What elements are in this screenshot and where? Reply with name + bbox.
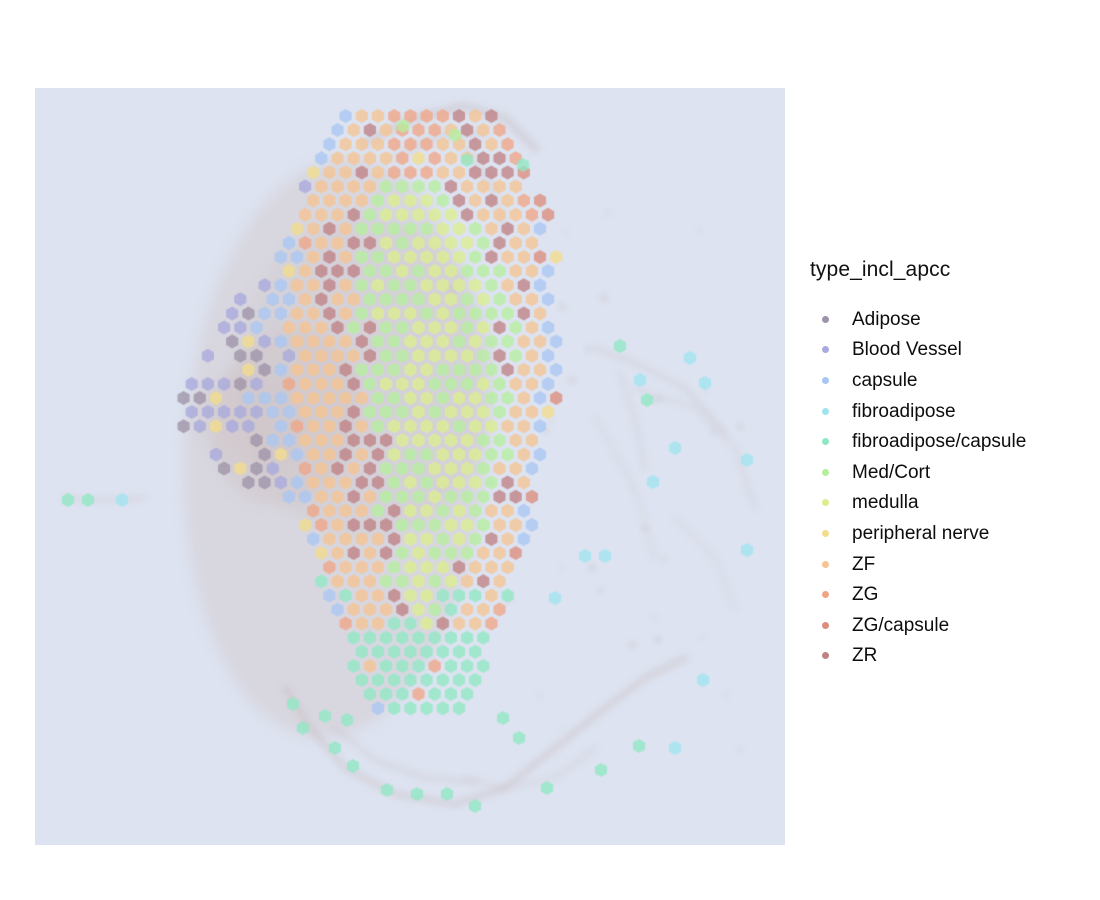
legend-color-dot-icon: [822, 530, 829, 537]
legend-item[interactable]: fibroadipose: [808, 396, 1100, 427]
legend-color-dot-icon: [822, 438, 829, 445]
legend-item[interactable]: peripheral nerve: [808, 518, 1100, 549]
legend-key-swatch: [808, 591, 842, 598]
legend-item[interactable]: ZF: [808, 549, 1100, 580]
legend-item[interactable]: Med/Cort: [808, 457, 1100, 488]
legend-title: type_incl_apcc: [810, 258, 1100, 282]
legend-item-label: medulla: [852, 493, 919, 512]
legend-item-label: fibroadipose/capsule: [852, 432, 1026, 451]
legend-item-list: AdiposeBlood Vesselcapsulefibroadiposefi…: [808, 304, 1100, 671]
legend-key-swatch: [808, 438, 842, 445]
legend-item-label: Adipose: [852, 310, 921, 329]
legend-key-swatch: [808, 499, 842, 506]
legend-item-label: ZG/capsule: [852, 616, 949, 635]
legend-item-label: ZR: [852, 646, 877, 665]
legend-item[interactable]: ZG/capsule: [808, 610, 1100, 641]
legend-key-swatch: [808, 408, 842, 415]
legend-color-dot-icon: [822, 499, 829, 506]
legend-key-swatch: [808, 652, 842, 659]
legend-item[interactable]: capsule: [808, 365, 1100, 396]
legend-key-swatch: [808, 469, 842, 476]
legend-item[interactable]: fibroadipose/capsule: [808, 426, 1100, 457]
spot-scatter-layer: [35, 88, 785, 845]
legend-key-swatch: [808, 622, 842, 629]
legend-key-swatch: [808, 561, 842, 568]
legend-item-label: Med/Cort: [852, 463, 930, 482]
legend-item[interactable]: ZR: [808, 641, 1100, 672]
legend-color-dot-icon: [822, 316, 829, 323]
legend-item-label: capsule: [852, 371, 918, 390]
legend-item[interactable]: ZG: [808, 579, 1100, 610]
legend-color-dot-icon: [822, 469, 829, 476]
legend-key-swatch: [808, 377, 842, 384]
legend-color-dot-icon: [822, 408, 829, 415]
legend-color-dot-icon: [822, 377, 829, 384]
legend-item[interactable]: Blood Vessel: [808, 335, 1100, 366]
legend-key-swatch: [808, 316, 842, 323]
spatial-plot-panel: [35, 88, 785, 845]
legend-key-swatch: [808, 346, 842, 353]
legend-color-dot-icon: [822, 561, 829, 568]
legend-item[interactable]: Adipose: [808, 304, 1100, 335]
legend-color-dot-icon: [822, 591, 829, 598]
legend-item-label: ZG: [852, 585, 878, 604]
legend: type_incl_apcc AdiposeBlood Vesselcapsul…: [808, 258, 1100, 671]
legend-key-swatch: [808, 530, 842, 537]
figure-root: type_incl_apcc AdiposeBlood Vesselcapsul…: [0, 0, 1100, 900]
legend-color-dot-icon: [822, 346, 829, 353]
legend-color-dot-icon: [822, 622, 829, 629]
legend-item-label: Blood Vessel: [852, 340, 962, 359]
legend-item[interactable]: medulla: [808, 488, 1100, 519]
legend-item-label: fibroadipose: [852, 402, 956, 421]
legend-item-label: ZF: [852, 555, 875, 574]
legend-item-label: peripheral nerve: [852, 524, 989, 543]
legend-color-dot-icon: [822, 652, 829, 659]
